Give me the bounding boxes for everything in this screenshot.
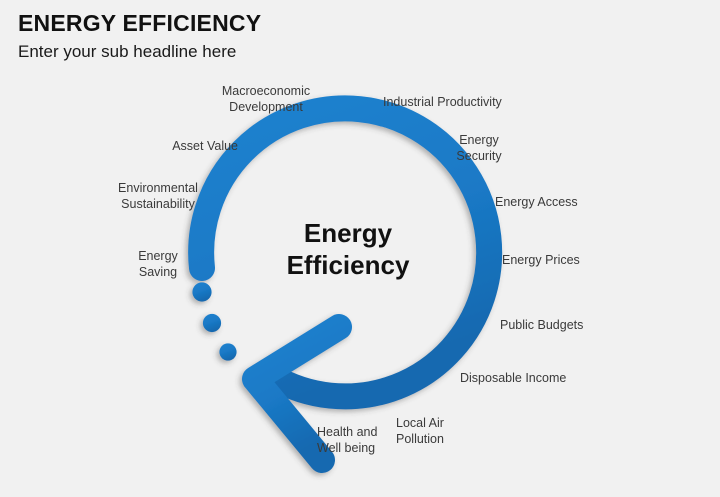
center-title: Energy Efficiency	[258, 218, 438, 281]
node-label-macroeconomic-development[interactable]: Macroeconomic Development	[196, 83, 336, 115]
node-label-energy-saving[interactable]: Energy Saving	[114, 248, 202, 280]
trail-dot-1	[192, 282, 211, 301]
trail-dot-2	[203, 314, 221, 332]
node-label-environmental-sustainability[interactable]: Environmental Sustainability	[94, 180, 222, 212]
node-label-public-budgets[interactable]: Public Budgets	[500, 317, 630, 333]
node-label-energy-security[interactable]: Energy Security	[434, 132, 524, 164]
node-label-energy-access[interactable]: Energy Access	[495, 194, 635, 210]
node-label-industrial-productivity[interactable]: Industrial Productivity	[383, 94, 543, 110]
trail-dot-3	[219, 343, 236, 360]
node-label-disposable-income[interactable]: Disposable Income	[460, 370, 620, 386]
node-label-local-air-pollution[interactable]: Local Air Pollution	[396, 415, 486, 447]
node-label-energy-prices[interactable]: Energy Prices	[502, 252, 632, 268]
center-title-line-2: Efficiency	[258, 250, 438, 282]
center-title-line-1: Energy	[258, 218, 438, 250]
slide-canvas: ENERGY EFFICIENCY Enter your sub headlin…	[0, 0, 720, 497]
node-label-asset-value[interactable]: Asset Value	[118, 138, 238, 154]
